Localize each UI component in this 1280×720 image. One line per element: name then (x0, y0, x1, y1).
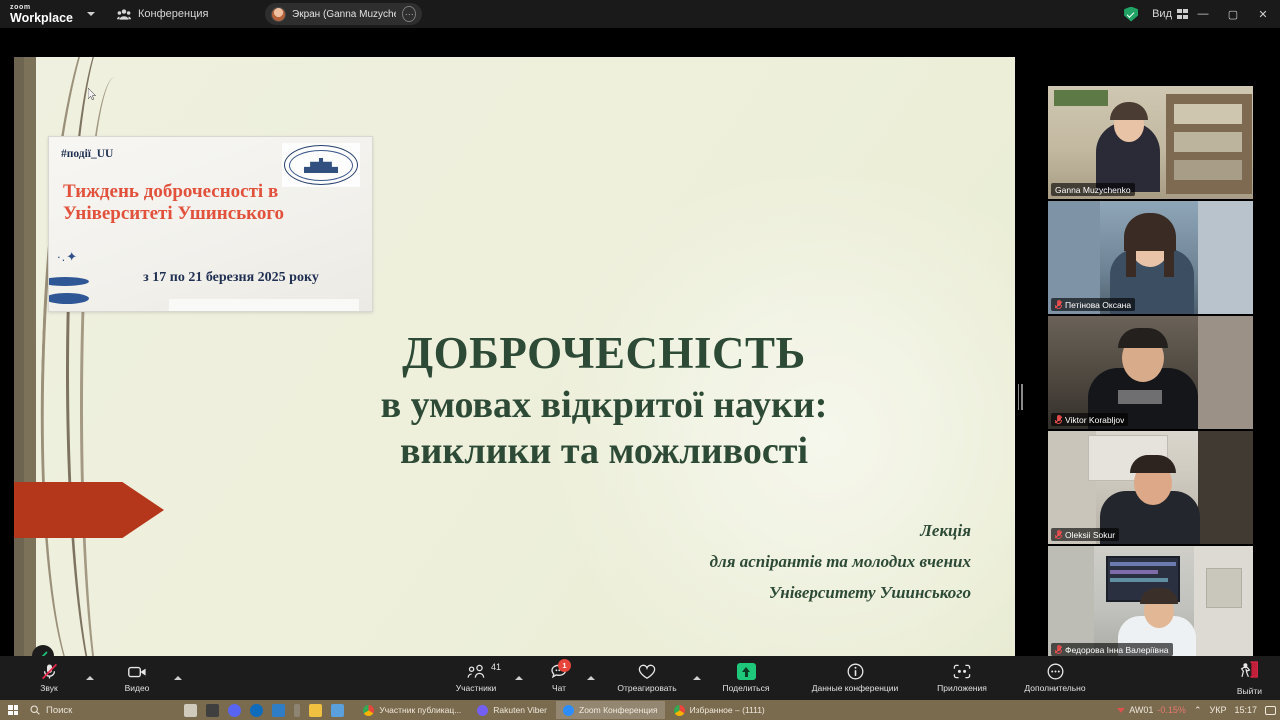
stock-change: -0.15% (1157, 705, 1186, 715)
search-icon (30, 705, 40, 715)
reactions-button-label: Отреагировать (617, 683, 676, 693)
taskbar-window-label: Zoom Конференция (579, 705, 658, 715)
slide-title: ДОБРОЧЕСНІСТЬ в умовах відкритої науки: … (304, 329, 904, 474)
app-icon-vscode[interactable] (272, 704, 285, 717)
slide-subtitle-line-2: для аспірантів та молодих вчених (411, 546, 971, 577)
video-tile[interactable]: Oleksii Sokur (1048, 431, 1253, 544)
windows-logo-icon (8, 705, 18, 715)
view-button-label: Вид (1152, 8, 1172, 20)
toolbar-left-group: Звук Видео (16, 656, 186, 700)
poster-wave (48, 277, 89, 286)
more-horizontal-icon (1047, 663, 1064, 680)
notifications-icon[interactable] (1265, 706, 1276, 715)
stock-symbol: AW01 (1129, 705, 1153, 715)
chevron-down-icon[interactable] (87, 12, 95, 16)
chat-unread-badge: 1 (558, 659, 571, 672)
meeting-info-button[interactable]: Данные конференции (793, 656, 917, 700)
zoom-logo-big: Workplace (10, 12, 73, 25)
video-tile[interactable]: Viktor Korabljov (1048, 316, 1253, 429)
apps-button-label: Приложения (937, 683, 987, 693)
apps-icon (953, 663, 971, 680)
poster-hashtag: #події_UU (61, 148, 113, 160)
participant-filmstrip: Ganna Muzychenko Петінова Оксана (1048, 86, 1255, 661)
taskbar-window-label: Rakuten Viber (493, 705, 547, 715)
tab-meeting[interactable]: Конференция (117, 8, 208, 20)
stock-ticker[interactable]: AW01 -0.15% (1117, 705, 1186, 715)
toolbar-center-group: 41 Участники 1 Чат Отреаг (441, 656, 1103, 700)
apps-button[interactable]: Приложения (923, 656, 1001, 700)
info-icon (847, 663, 864, 680)
participant-name-badge: Ganna Muzychenko (1051, 183, 1135, 196)
maximize-button[interactable]: ▢ (1218, 0, 1248, 28)
taskbar-window[interactable]: Избранное – (1111) (667, 701, 772, 719)
participant-name: Петінова Оксана (1065, 300, 1131, 310)
slide-subtitle-line-1: Лекція (411, 515, 971, 546)
system-tray: AW01 -0.15% ⌃ УКР 15:17 (1117, 705, 1276, 716)
more-options-icon[interactable]: ··· (402, 6, 416, 22)
video-tile[interactable]: Федорова Інна Валеріївна (1048, 546, 1253, 659)
chevron-up-icon (86, 676, 94, 680)
zoom-icon (563, 705, 574, 716)
avatar (271, 7, 286, 22)
chat-options-button[interactable] (583, 656, 599, 700)
mic-muted-icon (1055, 300, 1062, 309)
taskbar-window[interactable]: Rakuten Viber (470, 701, 554, 719)
window-controls-group: Вид — ▢ ✕ (1124, 0, 1280, 28)
view-button[interactable]: Вид (1152, 8, 1188, 20)
chevron-up-icon (693, 676, 701, 680)
leave-meeting-button[interactable]: Выйти (1237, 661, 1262, 696)
mic-muted-icon (41, 663, 58, 680)
taskbar-window[interactable]: Участник публикац... (356, 701, 468, 719)
tray-overflow-icon[interactable]: ⌃ (1194, 705, 1202, 716)
participants-icon (467, 663, 486, 680)
slide-subtitle-line-3: Університету Ушинського (411, 577, 971, 608)
reactions-button[interactable]: Отреагировать (605, 656, 689, 700)
more-button-label: Дополнительно (1024, 683, 1085, 693)
participant-name-badge: Viktor Korabljov (1051, 413, 1128, 426)
app-icon-store[interactable] (331, 704, 344, 717)
meeting-stage: #події_UU Тиждень доброчесності в Універ… (0, 28, 1280, 656)
people-icon (117, 9, 131, 20)
audio-button-label: Звук (40, 683, 57, 693)
app-icon-outlook[interactable] (250, 704, 263, 717)
leave-meeting-label: Выйти (1237, 686, 1262, 696)
participant-name: Oleksii Sokur (1065, 530, 1115, 540)
slide-title-line-2: в умовах відкритої науки: (304, 382, 904, 428)
audio-button[interactable]: Звук (16, 656, 82, 700)
poster-date: з 17 по 21 березня 2025 року (95, 270, 367, 286)
slide-title-line-1: ДОБРОЧЕСНІСТЬ (304, 329, 904, 378)
app-icon-generic[interactable] (206, 704, 219, 717)
audio-options-button[interactable] (82, 656, 98, 700)
participant-name-badge: Петінова Оксана (1051, 298, 1135, 311)
screen-share-label: Экран (Ganna Muzychenko) (292, 9, 396, 20)
chevron-up-icon (515, 676, 523, 680)
taskbar-search-placeholder: Поиск (46, 705, 72, 716)
start-button[interactable] (0, 705, 26, 715)
camera-icon (128, 663, 147, 680)
clock[interactable]: 15:17 (1234, 705, 1257, 715)
poster-wave (48, 293, 89, 304)
minimize-button[interactable]: — (1188, 0, 1218, 28)
share-screen-icon (737, 663, 756, 680)
zoom-logo-small: zoom (10, 4, 73, 11)
participant-name-badge: Федорова Інна Валеріївна (1051, 643, 1173, 656)
chat-button[interactable]: 1 Чат (535, 656, 583, 700)
poster-image: #події_UU Тиждень доброчесності в Універ… (48, 136, 373, 312)
participant-name: Ganna Muzychenko (1055, 185, 1131, 195)
poster-footer-strip (169, 299, 359, 312)
taskbar-window-label: Избранное – (1111) (690, 705, 765, 715)
leave-icon (1239, 661, 1260, 683)
chat-button-label: Чат (552, 683, 566, 693)
participants-button[interactable]: 41 Участники (441, 656, 511, 700)
video-button-label: Видео (125, 683, 150, 693)
task-view-icon[interactable] (184, 704, 197, 717)
layout-grid-icon (1177, 9, 1188, 19)
share-screen-button-label: Поделиться (723, 683, 770, 693)
shared-screen-slide[interactable]: #події_UU Тиждень доброчесності в Універ… (14, 57, 1015, 659)
video-tile[interactable]: Ganna Muzychenko (1048, 86, 1253, 199)
taskbar-window-active[interactable]: Zoom Конференция (556, 701, 665, 719)
security-shield-icon[interactable] (1124, 7, 1138, 22)
taskbar-window-list: Участник публикац... Rakuten Viber Zoom … (356, 701, 771, 719)
chevron-up-icon (174, 676, 182, 680)
mic-muted-icon (1055, 645, 1062, 654)
poster-title: Тиждень доброчесності в Університеті Уши… (63, 181, 363, 225)
participants-count: 41 (491, 662, 501, 672)
slide-title-line-3: виклики та можливості (304, 428, 904, 474)
share-resize-handle[interactable] (1016, 380, 1024, 414)
mic-muted-icon (1055, 530, 1062, 539)
participant-name: Viktor Korabljov (1065, 415, 1124, 425)
chevron-up-icon (587, 676, 595, 680)
participant-name: Федорова Інна Валеріївна (1065, 645, 1169, 655)
viber-icon (477, 705, 488, 716)
poster-decoration-icon: ∙.✦ (57, 249, 78, 265)
taskbar-window-label: Участник публикац... (379, 705, 461, 715)
tab-meeting-label: Конференция (138, 8, 208, 20)
video-options-button[interactable] (170, 656, 186, 700)
language-indicator[interactable]: УКР (1210, 705, 1227, 715)
mic-muted-icon (1055, 415, 1062, 424)
chrome-icon (674, 705, 685, 716)
meeting-info-button-label: Данные конференции (812, 683, 899, 693)
meeting-toolbar: Звук Видео 41 (0, 656, 1280, 700)
app-icon-small[interactable] (294, 704, 300, 717)
participants-button-label: Участники (456, 683, 497, 693)
taskbar-search[interactable]: Поиск (30, 705, 72, 716)
app-icon-discord[interactable] (228, 704, 241, 717)
participants-options-button[interactable] (511, 656, 527, 700)
windows-taskbar: Поиск Участник публикац... Rakuten Viber… (0, 700, 1280, 720)
participant-name-badge: Oleksii Sokur (1051, 528, 1119, 541)
zoom-title-bar: zoom Workplace Конференция Экран (Ganna … (0, 0, 1280, 28)
zoom-logo: zoom Workplace (10, 4, 73, 25)
share-screen-button[interactable]: Поделиться (709, 656, 783, 700)
video-button[interactable]: Видео (104, 656, 170, 700)
toolbar-right-group: Выйти (1237, 656, 1262, 700)
slide-subtitle: Лекція для аспірантів та молодих вчених … (411, 515, 971, 608)
reactions-options-button[interactable] (689, 656, 705, 700)
screen-share-indicator[interactable]: Экран (Ganna Muzychenko) ··· (265, 3, 422, 25)
trend-down-icon (1117, 708, 1125, 713)
slide-left-bar-inner (14, 57, 24, 659)
taskbar-pinned-icons (184, 704, 344, 717)
app-icon-explorer[interactable] (309, 704, 322, 717)
mouse-cursor-icon (88, 88, 96, 100)
video-tile[interactable]: Петінова Оксана (1048, 201, 1253, 314)
heart-icon (638, 663, 656, 680)
close-button[interactable]: ✕ (1248, 0, 1278, 28)
chrome-icon (363, 705, 374, 716)
more-button[interactable]: Дополнительно (1007, 656, 1103, 700)
